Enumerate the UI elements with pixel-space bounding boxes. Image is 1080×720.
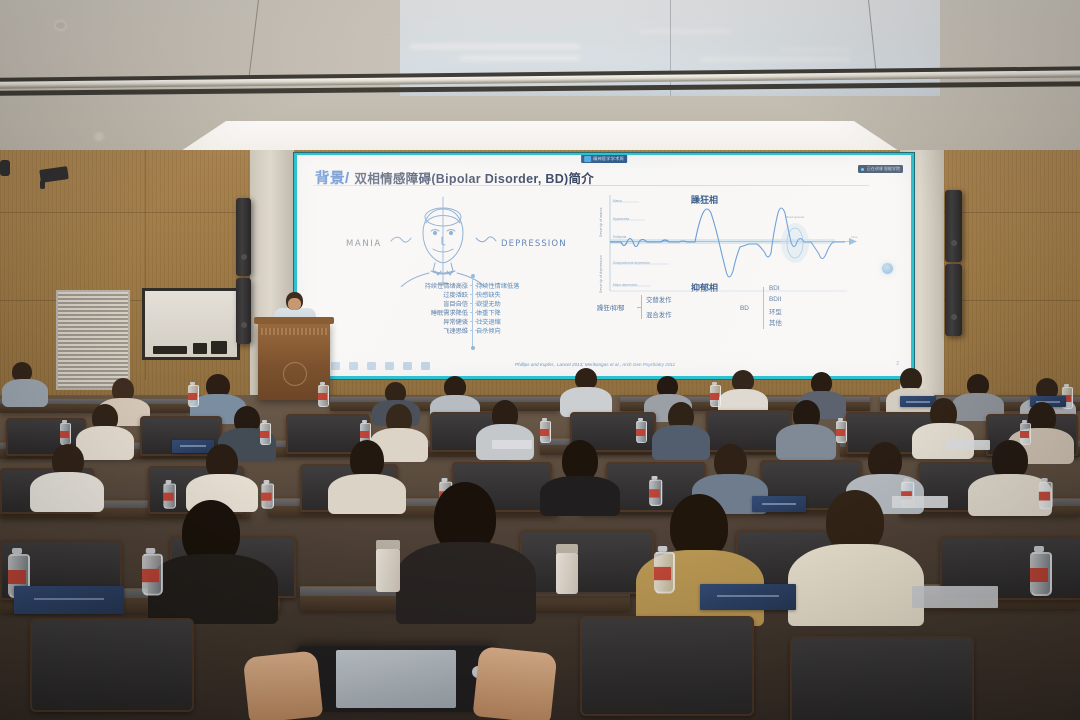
audience-chair	[580, 616, 754, 716]
conference-folder	[14, 586, 124, 614]
branch-item-alternating: 交替发作	[646, 295, 672, 304]
ventilation-grille	[56, 290, 130, 390]
ceiling	[0, 0, 1080, 152]
slide-page-number: 2	[896, 361, 899, 367]
mood-curve-svg	[599, 191, 867, 295]
notebook	[912, 586, 998, 608]
audience-member	[788, 490, 924, 622]
smartphone[interactable]	[296, 646, 496, 712]
wall-sensor	[0, 160, 10, 176]
mood-course-chart: Severity of mania Severity of depression…	[599, 191, 867, 295]
audience-member	[148, 500, 278, 620]
laser-icon[interactable]	[403, 362, 412, 370]
presenter-face	[288, 298, 301, 310]
pen-icon[interactable]	[331, 362, 340, 370]
audience-member	[186, 444, 258, 508]
note-icon[interactable]	[385, 362, 394, 370]
phone-screen[interactable]	[336, 650, 456, 708]
slide-surface: 精神医学学术周 正在讲课 智能学院 背景/ 双相情感障碍(Bipolar Dis…	[297, 155, 911, 376]
audience-member	[328, 440, 406, 510]
depression-symptom: 自杀倾向	[472, 326, 587, 335]
symptom-row: 盲目自信 欲望无助	[357, 299, 587, 308]
handout-paper	[492, 440, 532, 449]
slides-icon[interactable]	[367, 362, 376, 370]
insulated-tumbler	[376, 548, 400, 592]
top-banner-label: 精神医学学术周	[593, 156, 624, 162]
recording-status-badge[interactable]: 正在讲课 智能学院	[858, 165, 903, 173]
column-speaker-right	[945, 264, 962, 336]
podium-trim	[261, 328, 327, 335]
audience-chair	[790, 636, 974, 720]
branch-item-bdii: BDII	[769, 296, 781, 303]
right-hand	[473, 646, 558, 720]
depression-symptom: 快感缺失	[472, 290, 587, 299]
branch-item-other: 其他	[769, 318, 782, 327]
presentation-toolbar[interactable]	[313, 362, 430, 370]
audience-member	[30, 444, 104, 508]
symptom-row: 过度活跃 快感缺失	[357, 290, 587, 299]
laser-pointer-dot	[882, 263, 893, 274]
podium-emblem	[283, 362, 307, 386]
audience-member-airwalking	[540, 440, 620, 512]
control-room-window	[142, 288, 240, 360]
branch-item-mixed: 混合发作	[646, 310, 672, 319]
branch-tick	[637, 307, 641, 308]
symptom-comparison-list: 持续性情绪高涨 持续性情绪低落 过度活跃 快感缺失 盲目自信 欲望无助 睡眠需求…	[357, 281, 587, 343]
tumbler-lid	[376, 540, 400, 549]
ceiling-downlight	[96, 134, 102, 139]
symptom-row: 飞速思维 自杀倾向	[357, 326, 587, 335]
branch-brace	[763, 287, 764, 329]
more-icon[interactable]	[421, 362, 430, 370]
depression-symptom: 社交退缩	[472, 317, 587, 326]
depression-symptom: 体重下降	[472, 308, 587, 317]
audience-chair	[520, 530, 654, 594]
tumbler-lid	[556, 544, 578, 553]
column-speaker-right	[945, 190, 962, 262]
slide-top-banner: 精神医学学术周	[581, 155, 627, 163]
symptom-connector	[455, 321, 489, 322]
depression-symptom: 欲望无助	[472, 299, 587, 308]
audience-member	[776, 400, 836, 456]
recording-status-label: 正在讲课 智能学院	[867, 166, 900, 172]
branch-brace	[641, 295, 642, 319]
audience-member	[2, 362, 48, 406]
audience-member	[560, 368, 612, 416]
symptom-row: 持续性情绪高涨 持续性情绪低落	[357, 281, 587, 290]
broadcast-icon	[584, 156, 591, 162]
foreground-photographer	[228, 640, 558, 720]
face-sketch-svg	[343, 195, 593, 287]
projector-mount-arm	[40, 180, 45, 189]
podium-top	[254, 317, 334, 324]
split-face-illustration: MANIA DEPRESSION	[343, 195, 593, 287]
record-dot-icon	[861, 168, 864, 171]
column-speaker-left	[236, 198, 251, 276]
slide-citation: Phillips and Kupfer., Lancet 2013; Merik…	[515, 362, 675, 367]
column-speaker-left	[236, 278, 251, 344]
lecture-hall-photo: 精神医学学术周 正在讲课 智能学院 背景/ 双相情感障碍(Bipolar Dis…	[0, 0, 1080, 720]
branch-label-bd: BD	[740, 305, 749, 312]
fullscreen-icon[interactable]	[349, 362, 358, 370]
ceiling-downlight	[56, 22, 65, 29]
symptom-connector	[455, 330, 489, 331]
insulated-tumbler	[556, 552, 578, 594]
branch-item-cyclothymic: 环型	[769, 307, 782, 316]
ceiling-light-panel	[175, 121, 905, 152]
branch-label-mania-depression: 躁狂/抑郁	[597, 303, 624, 312]
audience-chair	[30, 618, 194, 712]
title-divider	[313, 185, 869, 186]
projection-screen: 精神医学学术周 正在讲课 智能学院 背景/ 双相情感障碍(Bipolar Dis…	[293, 152, 915, 380]
symptom-row: 睡眠需求降低 体重下降	[357, 308, 587, 317]
audience-member	[396, 482, 536, 620]
symptom-connector	[455, 312, 489, 313]
symptom-connector	[455, 285, 489, 286]
symptom-connector	[455, 294, 489, 295]
depression-symptom: 持续性情绪低落	[472, 281, 587, 290]
branch-item-bdi: BDI	[769, 285, 780, 292]
left-hand	[243, 650, 323, 720]
conference-folder	[700, 584, 796, 610]
symptom-row: 异常健谈 社交退缩	[357, 317, 587, 326]
symptom-connector	[455, 303, 489, 304]
